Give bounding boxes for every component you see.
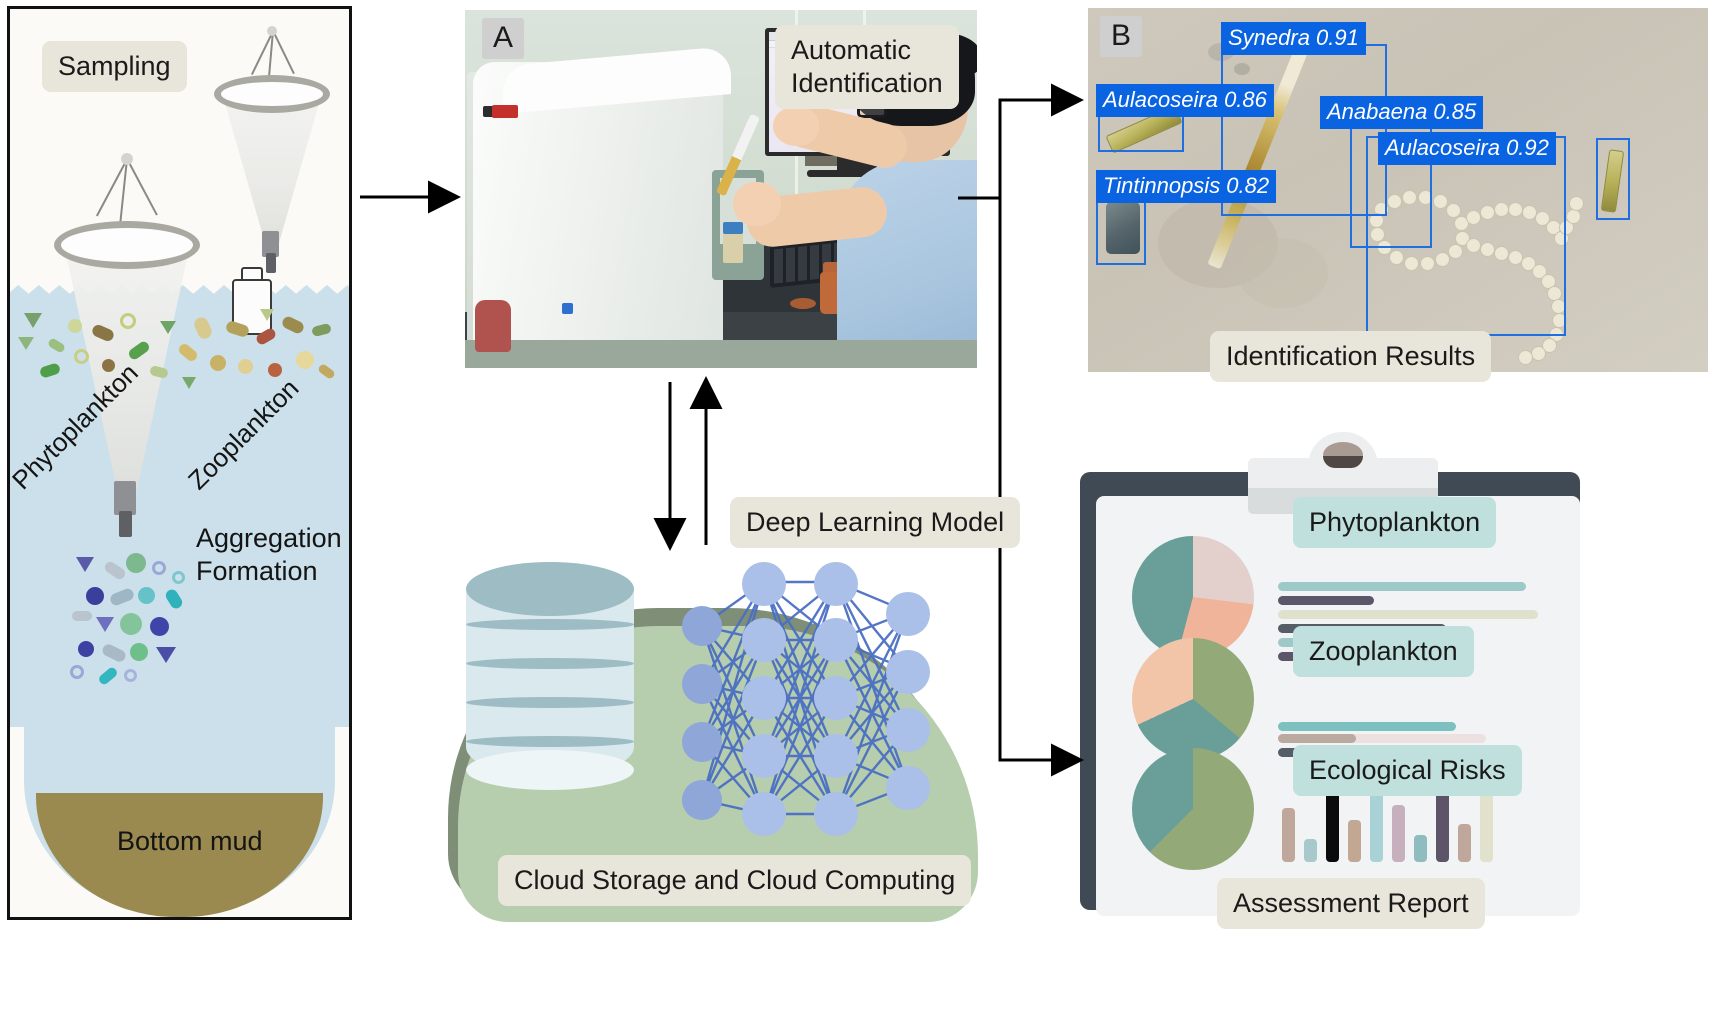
risk-bar [1304, 839, 1317, 862]
risk-bar [1282, 808, 1295, 862]
report-section-zooplankton: Zooplankton [1293, 626, 1474, 677]
nn-output-node [886, 650, 930, 694]
detection-label-synedra: Synedra 0.91 [1221, 22, 1366, 55]
petri-dish [790, 298, 816, 309]
nn-output-node [886, 592, 930, 636]
nn-hidden-node [742, 792, 786, 836]
risk-bar [1326, 787, 1339, 862]
clipboard-hole-shadow [1323, 456, 1363, 468]
database-cylinder [466, 562, 634, 790]
nn-input-node [682, 780, 722, 820]
researcher-hand-lower [733, 182, 781, 226]
risk-bar [1392, 805, 1405, 862]
aggregation-cluster [68, 547, 198, 687]
report-section-ecological-risks: Ecological Risks [1293, 745, 1522, 796]
nn-hidden-node [814, 676, 858, 720]
detection-label-tintinnopsis: Tintinnopsis 0.82 [1096, 170, 1276, 203]
bottom-mud-label: Bottom mud [117, 826, 263, 857]
cloud-storage-label: Cloud Storage and Cloud Computing [498, 855, 971, 906]
report-text-line [1278, 596, 1374, 605]
risk-bar [1348, 820, 1361, 862]
report-text-line [1278, 582, 1526, 591]
aggregation-label: Aggregation Formation [196, 522, 342, 589]
nn-input-node [682, 664, 722, 704]
assessment-report-caption: Assessment Report [1217, 878, 1485, 929]
zooplankton-pie-chart [1132, 638, 1254, 760]
sample-vial-cap [723, 222, 743, 234]
report-text-line [1278, 734, 1356, 743]
neural-network-diagram [680, 560, 980, 860]
detection-box-anabaena-main[interactable] [1366, 136, 1566, 336]
report-section-phytoplankton: Phytoplankton [1293, 497, 1496, 548]
plankton-net-small [206, 31, 336, 281]
nn-hidden-node [814, 792, 858, 836]
deep-learning-model-label: Deep Learning Model [730, 497, 1020, 548]
detection-box-aulacoseira-right[interactable] [1596, 138, 1630, 220]
panel-b-letter: B [1100, 16, 1142, 57]
nn-input-node [682, 722, 722, 762]
nn-hidden-node [742, 562, 786, 606]
usb-drive [492, 105, 518, 118]
nn-hidden-node [742, 676, 786, 720]
detection-label-anabaena: Anabaena 0.85 [1320, 96, 1483, 129]
nn-hidden-node [742, 734, 786, 778]
researcher-hand-upper [773, 106, 819, 146]
detection-label-aulacoseira-right: Aulacoseira 0.92 [1378, 132, 1556, 165]
panel-a-letter: A [482, 18, 524, 59]
nn-hidden-node [814, 618, 858, 662]
risk-bar [1458, 824, 1471, 862]
detection-label-aulacoseira-left: Aulacoseira 0.86 [1096, 84, 1274, 117]
nn-output-node [886, 766, 930, 810]
identification-results-caption: Identification Results [1210, 331, 1491, 382]
nn-hidden-node [814, 734, 858, 778]
figure-canvas: Sampling Phytoplankton Zooplankton Aggre… [0, 0, 1716, 1026]
automatic-identification-label: Automatic Identification [775, 25, 959, 109]
ecological-risks-pie-chart [1132, 748, 1254, 870]
floor-strip [465, 340, 977, 368]
risk-bar [1414, 835, 1427, 862]
red-container [475, 300, 511, 352]
report-text-line [1278, 722, 1456, 731]
detection-box-tintinnopsis[interactable] [1096, 193, 1146, 265]
arrow-identification-to-report [1000, 198, 1078, 760]
power-led [562, 303, 573, 314]
nn-input-node [682, 606, 722, 646]
report-text-line [1278, 610, 1538, 619]
sampling-label: Sampling [42, 41, 187, 92]
background-debris [1238, 238, 1328, 308]
nn-hidden-node [742, 618, 786, 662]
identification-results-image: Synedra 0.91 Aulacoseira 0.86 Anabaena 0… [1088, 8, 1708, 372]
nn-output-node [886, 708, 930, 752]
nn-hidden-node [814, 562, 858, 606]
